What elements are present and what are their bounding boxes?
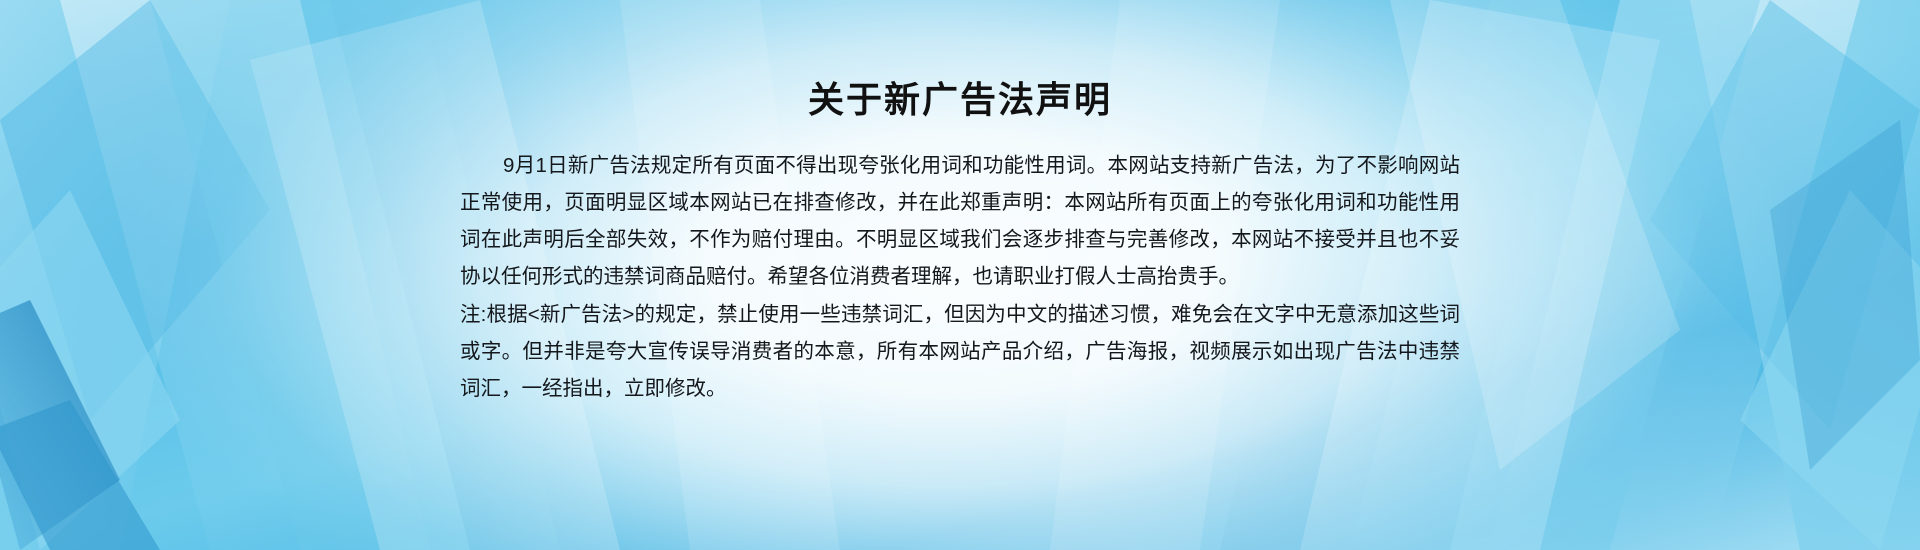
page-title: 关于新广告法声明	[460, 78, 1460, 121]
statement-paragraph-main: 9月1日新广告法规定所有页面不得出现夸张化用词和功能性用词。本网站支持新广告法，…	[460, 147, 1460, 295]
statement-content: 关于新广告法声明 9月1日新广告法规定所有页面不得出现夸张化用词和功能性用词。本…	[460, 0, 1460, 407]
advertising-law-statement-banner: 关于新广告法声明 9月1日新广告法规定所有页面不得出现夸张化用词和功能性用词。本…	[0, 0, 1920, 550]
statement-text-block: 9月1日新广告法规定所有页面不得出现夸张化用词和功能性用词。本网站支持新广告法，…	[460, 147, 1460, 407]
statement-paragraph-note: 注:根据<新广告法>的规定，禁止使用一些违禁词汇，但因为中文的描述习惯，难免会在…	[460, 296, 1460, 407]
